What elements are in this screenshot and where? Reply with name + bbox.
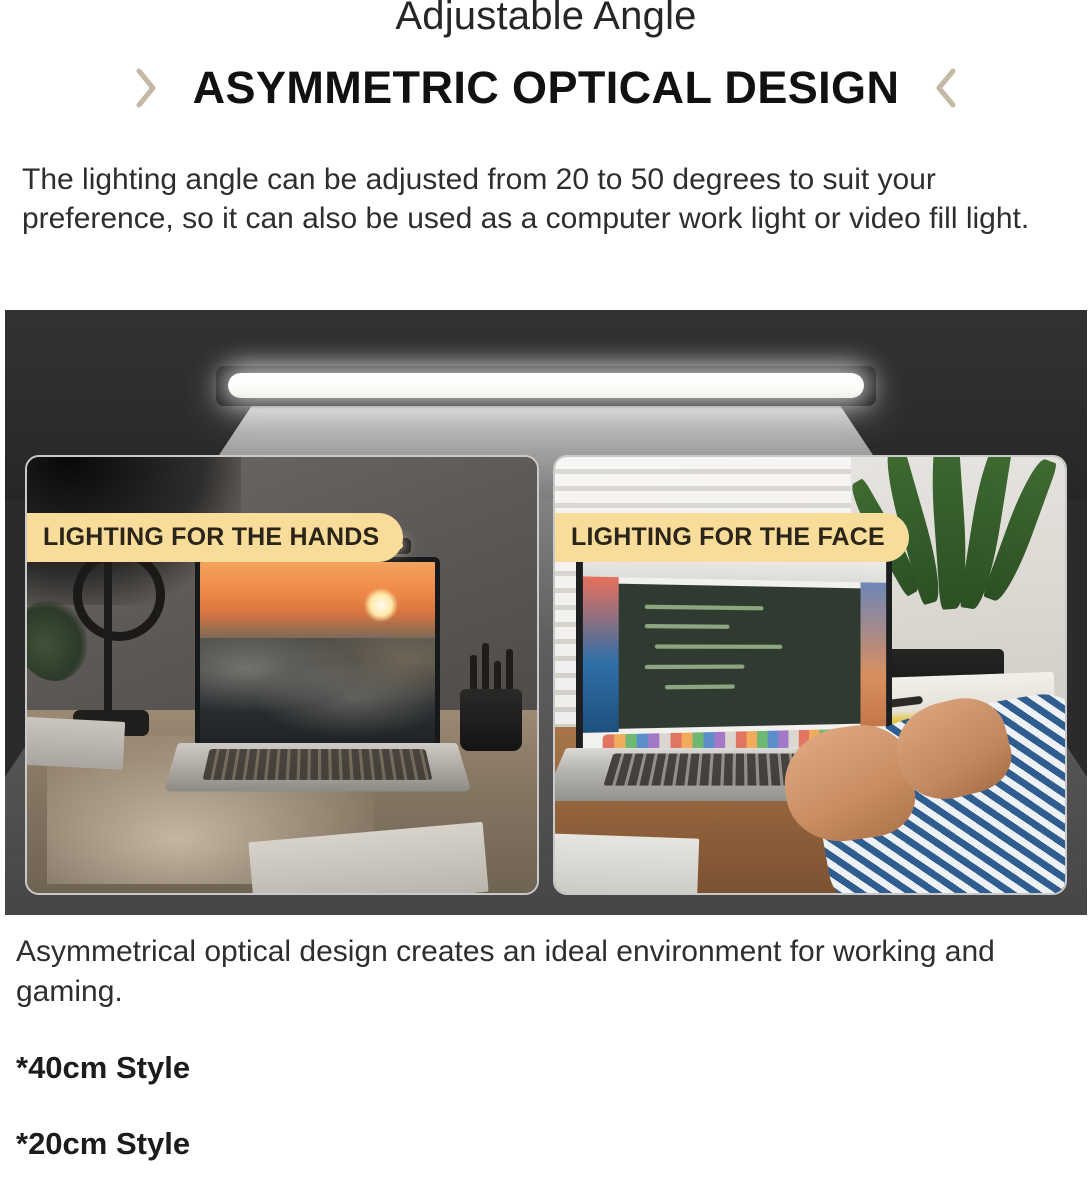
panel-lighting-for-the-face: LIGHTING FOR THE FACE (553, 455, 1067, 895)
headline-row: ASYMMETRIC OPTICAL DESIGN (0, 62, 1092, 114)
style-list: *40cm Style *20cm Style (16, 1048, 516, 1200)
code-line (644, 624, 729, 629)
style-item-20cm: *20cm Style (16, 1124, 516, 1164)
laptop (195, 557, 440, 801)
code-line (655, 644, 782, 648)
decor-ring (73, 549, 165, 641)
screen-sidebar-left (583, 577, 619, 733)
eyebrow-title: Adjustable Angle (0, 0, 1092, 42)
decor-pole (104, 553, 112, 727)
code-editor (619, 584, 861, 729)
style-item-40cm: *40cm Style (16, 1048, 516, 1088)
laptop-screen (195, 557, 440, 747)
panel-badge-hands: LIGHTING FOR THE HANDS (25, 513, 403, 562)
keyboard (203, 749, 432, 779)
cup (460, 689, 522, 751)
chevron-right-icon (133, 66, 159, 110)
caption-text: Asymmetrical optical design creates an i… (16, 932, 1078, 1012)
code-line (644, 604, 763, 610)
code-line (665, 684, 734, 689)
led-tube (228, 373, 864, 398)
led-light-bar (216, 366, 876, 406)
ocean-waves (200, 638, 435, 743)
hero-image: LIGHTING FOR THE HANDS (5, 310, 1087, 915)
paper-left (25, 716, 125, 770)
laptop-base (164, 743, 472, 791)
description-text: The lighting angle can be adjusted from … (22, 160, 1086, 238)
screen-sidebar-right (861, 583, 886, 727)
chevron-left-icon (933, 66, 959, 110)
photo-panels: LIGHTING FOR THE HANDS (25, 455, 1067, 895)
sun-glow (364, 588, 398, 622)
pen-holder (460, 653, 522, 751)
panel-badge-face: LIGHTING FOR THE FACE (553, 513, 909, 562)
panel-lighting-for-the-hands: LIGHTING FOR THE HANDS (25, 455, 539, 895)
code-line (644, 664, 743, 669)
notebook (553, 834, 699, 895)
page-title: ASYMMETRIC OPTICAL DESIGN (193, 62, 900, 114)
product-feature-page: Adjustable Angle ASYMMETRIC OPTICAL DESI… (0, 0, 1092, 1168)
